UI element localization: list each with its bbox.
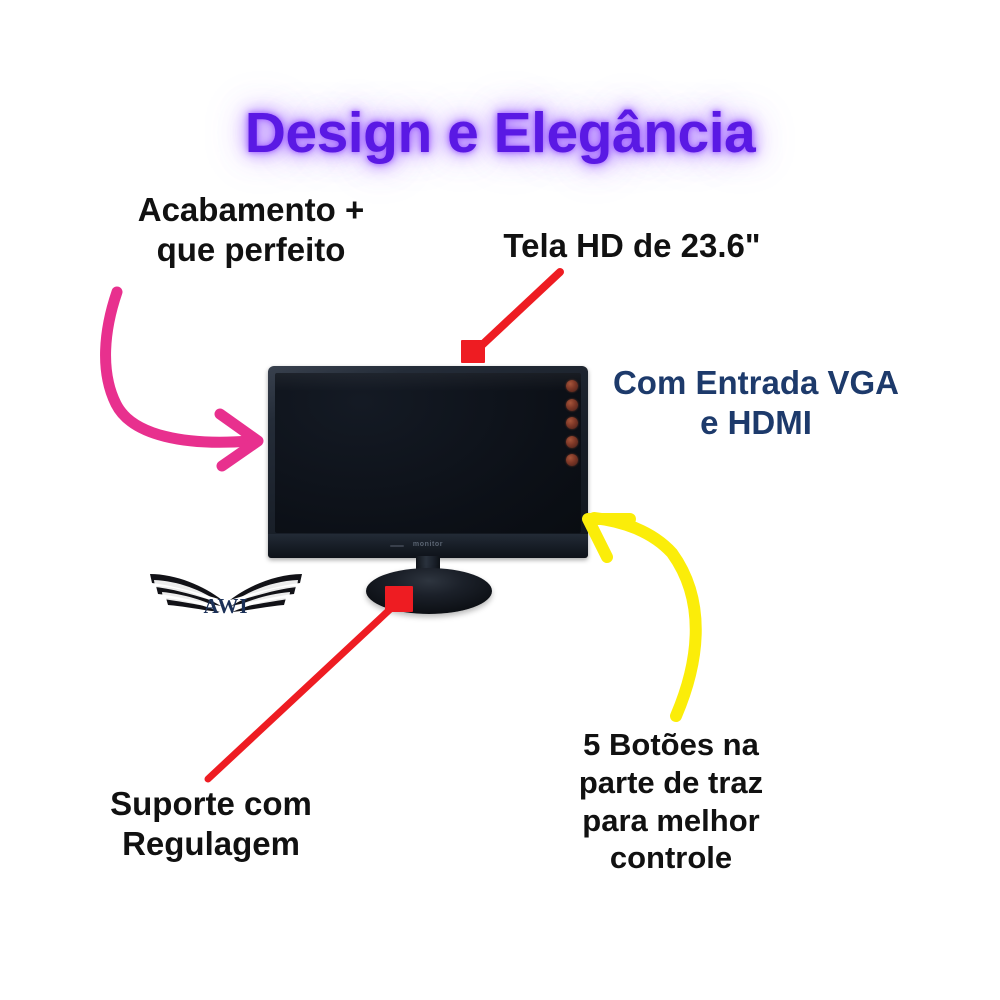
screen-sheen [275,373,581,391]
osd-button-3[interactable] [566,417,578,429]
callout-entradas-vga-hdmi: Com Entrada VGA e HDMI [578,363,934,444]
monitor-brand-label: monitor [413,541,443,548]
callout-suporte-regulagem: Suporte com Regulagem [66,784,356,865]
osd-button-4[interactable] [566,436,578,448]
osd-button-5[interactable] [566,454,578,466]
brand-name: AWI [146,594,306,619]
yellow-arrow [588,518,696,716]
red-marker-top [461,340,485,363]
monitor-screen [275,373,581,533]
callout-acabamento: Acabamento + que perfeito [86,190,416,271]
monitor-stand-base [366,568,492,614]
callout-botoes-traseiros: 5 Botões na parte de traz para melhor co… [540,726,802,877]
monitor-chin: monitor [268,534,588,558]
monitor-bezel [268,366,588,558]
poster-canvas: Design e Elegância monitor [0,0,1000,1000]
osd-button-2[interactable] [566,399,578,411]
brand-logo: AWI [146,556,306,640]
red-pointer-top [461,272,560,363]
page-title: Design e Elegância [0,100,1000,166]
pink-arrow [106,292,258,466]
callout-tela-hd: Tela HD de 23.6" [452,226,812,266]
osd-button-1[interactable] [566,380,578,392]
power-led [390,545,404,547]
